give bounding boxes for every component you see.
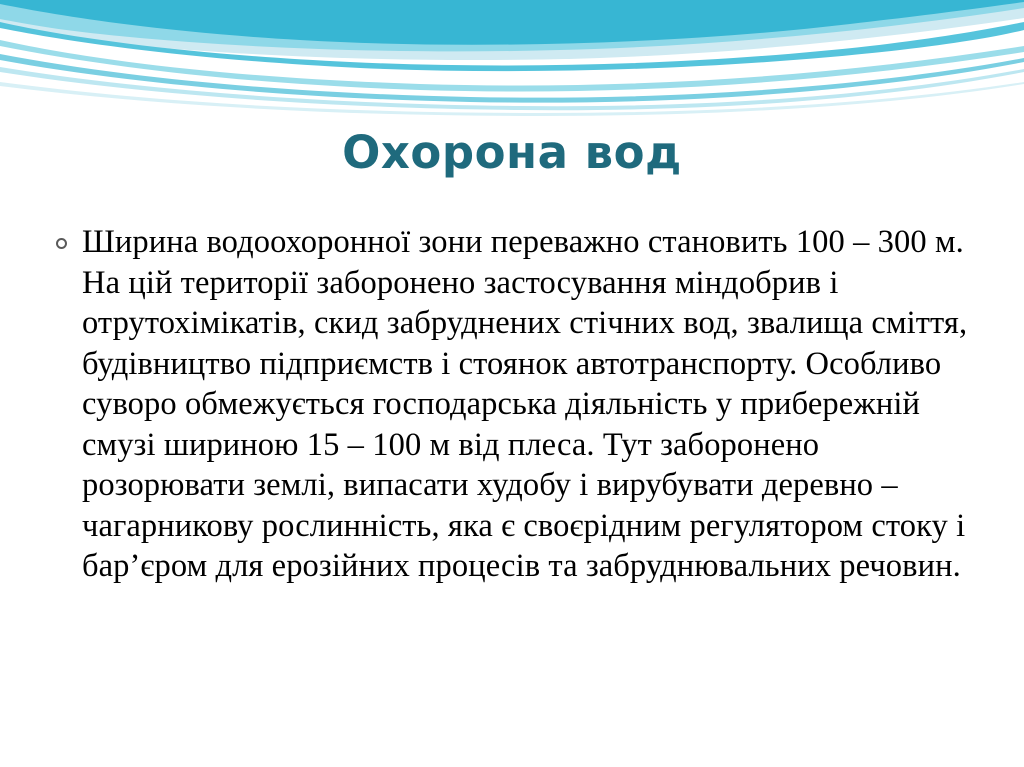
bullet-icon	[56, 222, 82, 249]
wave-banner-decoration	[0, 0, 1024, 120]
slide: Охорона вод Ширина водоохоронної зони пе…	[0, 0, 1024, 767]
body-content: Ширина водоохоронної зони переважно стан…	[56, 222, 976, 587]
page-title: Охорона вод	[0, 128, 1024, 178]
wave-banner-icon	[0, 0, 1024, 120]
list-item: Ширина водоохоронної зони переважно стан…	[56, 222, 976, 587]
bullet-text: Ширина водоохоронної зони переважно стан…	[82, 222, 976, 587]
